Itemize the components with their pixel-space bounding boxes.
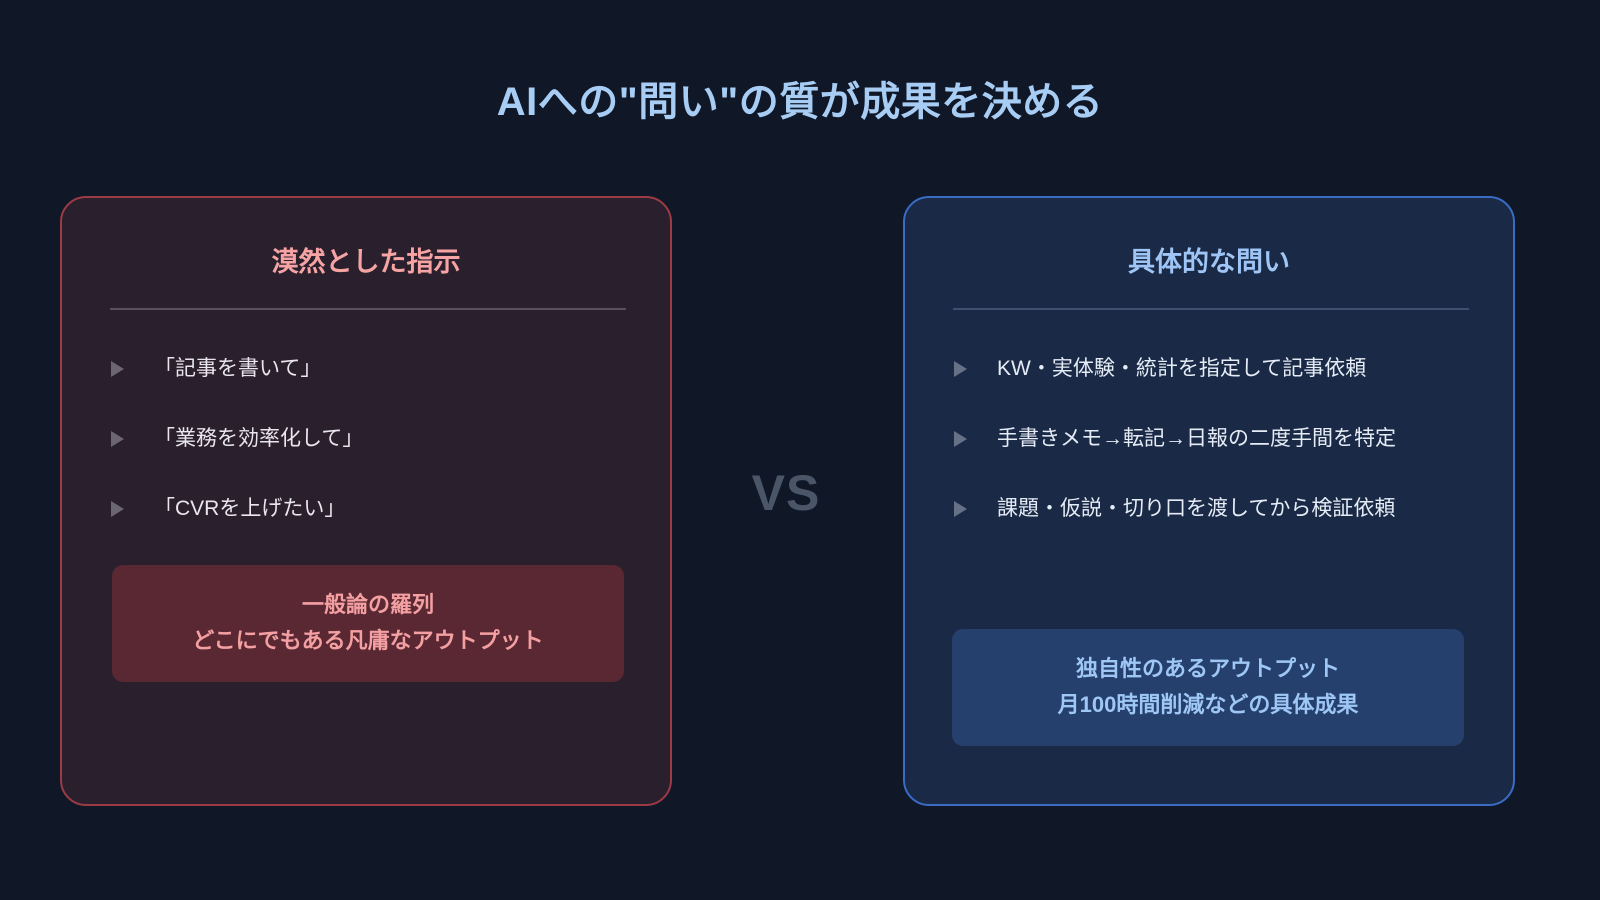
- list-item-label: 課題・仮説・切り口を渡してから検証依頼: [979, 493, 1395, 526]
- page-title: AIへの"問い"の質が成果を決める: [0, 78, 1600, 126]
- card-vague-instructions: 漠然とした指示 「記事を書いて」 「業務を効率化して」 「CVRを上げたい」: [60, 196, 672, 806]
- card-divider-left: [110, 308, 626, 310]
- list-item-label: KW・実体験・統計を指定して記事依頼: [979, 353, 1366, 386]
- triangle-right-icon: [110, 430, 136, 448]
- list-item: 課題・仮説・切り口を渡してから検証依頼: [953, 474, 1473, 544]
- outcome-callout-right-line1: 独自性のあるアウトプット: [968, 651, 1448, 687]
- list-item: 「業務を効率化して」: [110, 404, 630, 474]
- slide-root: AIへの"問い"の質が成果を決める 漠然とした指示 「記事を書いて」 「業務を効…: [0, 0, 1600, 900]
- list-vague-instructions: 「記事を書いて」 「業務を効率化して」 「CVRを上げたい」: [110, 334, 630, 544]
- outcome-callout-left-line1: 一般論の羅列: [128, 587, 608, 623]
- outcome-callout-left: 一般論の羅列 どこにでもある凡庸なアウトプット: [112, 565, 624, 682]
- triangle-right-icon: [110, 360, 136, 378]
- list-item-label: 「記事を書いて」: [136, 353, 321, 386]
- list-item-label: 手書きメモ→転記→日報の二度手間を特定: [979, 423, 1396, 456]
- vs-divider-label: VS: [735, 468, 837, 518]
- card-specific-questions: 具体的な問い KW・実体験・統計を指定して記事依頼 手書きメモ→転記→日報の二度…: [903, 196, 1515, 806]
- list-item-label: 「業務を効率化して」: [136, 423, 363, 456]
- triangle-right-icon: [953, 500, 979, 518]
- list-specific-questions: KW・実体験・統計を指定して記事依頼 手書きメモ→転記→日報の二度手間を特定 課…: [953, 334, 1473, 544]
- list-item: 「記事を書いて」: [110, 334, 630, 404]
- outcome-callout-left-line2: どこにでもある凡庸なアウトプット: [128, 623, 608, 659]
- triangle-right-icon: [110, 500, 136, 518]
- triangle-right-icon: [953, 360, 979, 378]
- outcome-callout-right: 独自性のあるアウトプット 月100時間削減などの具体成果: [952, 629, 1464, 746]
- card-title-left: 漠然とした指示: [62, 246, 670, 278]
- card-title-right: 具体的な問い: [905, 246, 1513, 278]
- triangle-right-icon: [953, 430, 979, 448]
- list-item: 手書きメモ→転記→日報の二度手間を特定: [953, 404, 1473, 474]
- list-item: KW・実体験・統計を指定して記事依頼: [953, 334, 1473, 404]
- outcome-callout-right-line2: 月100時間削減などの具体成果: [968, 687, 1448, 723]
- list-item-label: 「CVRを上げたい」: [136, 493, 345, 526]
- list-item: 「CVRを上げたい」: [110, 474, 630, 544]
- card-divider-right: [953, 308, 1469, 310]
